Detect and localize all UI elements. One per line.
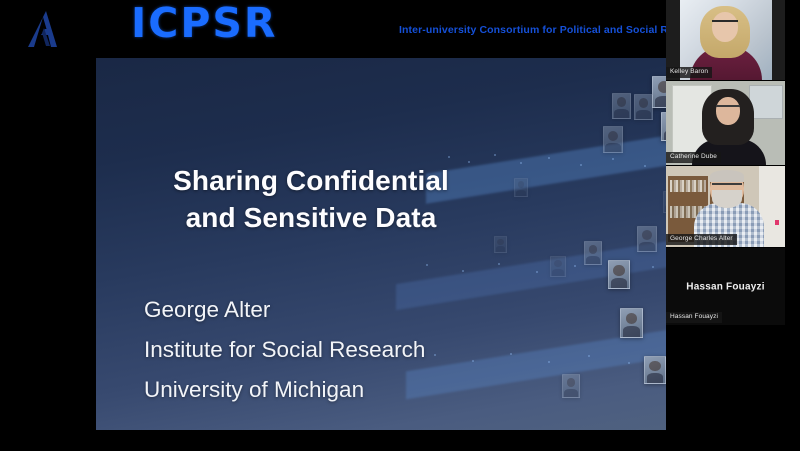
portrait-card bbox=[612, 93, 631, 119]
right-letterbox bbox=[785, 0, 800, 451]
portrait-card bbox=[637, 226, 657, 252]
icpsr-header-banner: ICPSR Inter-university Consortium for Po… bbox=[0, 0, 666, 58]
participant-tile-hassan-fouayzi[interactable]: Hassan Fouayzi Hassan Fouayzi bbox=[666, 248, 785, 326]
portrait-card bbox=[494, 236, 507, 253]
icpsr-tagline: Inter-university Consortium for Politica… bbox=[399, 24, 666, 36]
portrait-card bbox=[644, 356, 666, 384]
portrait-card bbox=[550, 256, 566, 277]
portrait-card bbox=[608, 260, 630, 289]
slide-byline: George Alter Institute for Social Resear… bbox=[144, 290, 425, 410]
data-plane-bottom bbox=[406, 321, 707, 400]
webinar-screen: ICPSR Inter-university Consortium for Po… bbox=[0, 0, 800, 451]
presentation-slide: Sharing Confidential and Sensitive Data … bbox=[96, 58, 707, 430]
slide-affiliation: Institute for Social Research bbox=[144, 330, 425, 370]
participant-nametag: Catherine Dube bbox=[666, 152, 721, 163]
participant-tile-catherine-dube[interactable]: Catherine Dube bbox=[666, 81, 785, 166]
participant-nametag: Hassan Fouayzi bbox=[666, 312, 722, 323]
participant-nametag: George Charles Alter bbox=[666, 234, 737, 245]
empty-area-below-tiles bbox=[666, 326, 800, 451]
slide-title: Sharing Confidential and Sensitive Data bbox=[96, 162, 526, 236]
portrait-card bbox=[620, 308, 643, 338]
participant-tile-george-charles-alter[interactable]: George Charles Alter bbox=[666, 166, 785, 248]
camera-off-name-label: Hassan Fouayzi bbox=[666, 281, 785, 292]
participant-video-strip[interactable]: Kelley Baron Catherine Dube bbox=[666, 0, 785, 326]
portrait-card bbox=[634, 94, 653, 120]
portrait-card bbox=[584, 241, 602, 265]
participant-nametag: Kelley Baron bbox=[666, 67, 712, 78]
slide-title-line1: Sharing Confidential bbox=[96, 162, 526, 199]
icpsr-logotype: ICPSR bbox=[131, 2, 278, 45]
slide-title-line2: and Sensitive Data bbox=[96, 199, 526, 236]
portrait-card bbox=[603, 126, 623, 153]
a-monogram-icon bbox=[24, 8, 68, 50]
slide-author: George Alter bbox=[144, 290, 425, 330]
slide-organization: University of Michigan bbox=[144, 370, 425, 410]
participant-tile-kelley-baron[interactable]: Kelley Baron bbox=[666, 0, 785, 81]
data-plane-middle bbox=[396, 232, 707, 310]
portrait-card bbox=[562, 374, 580, 398]
